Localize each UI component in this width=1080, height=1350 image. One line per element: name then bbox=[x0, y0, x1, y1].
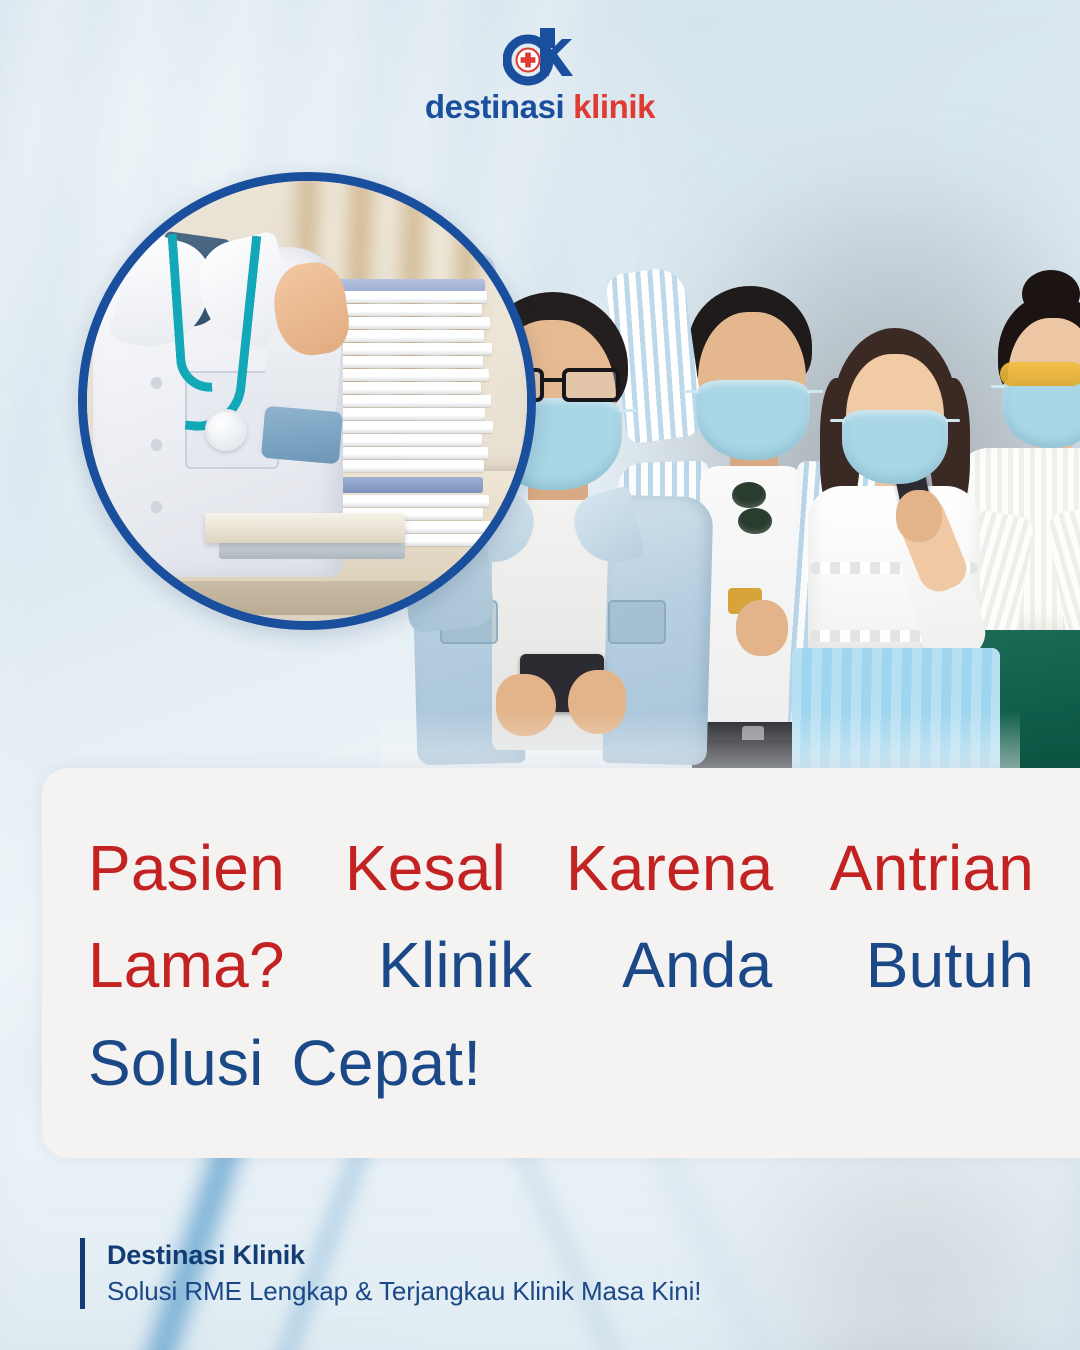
footer-brand-name: Destinasi Klinik bbox=[107, 1238, 701, 1272]
brand-wordmark: destinasi klinik bbox=[425, 90, 655, 123]
circle-inset-doctor-paperwork bbox=[78, 172, 536, 630]
jacket-pocket-right bbox=[608, 600, 666, 644]
person-woman-blue-skirt-on-phone bbox=[780, 300, 1010, 770]
stethoscope-bell-icon bbox=[205, 409, 247, 451]
coat-button-1 bbox=[151, 377, 162, 388]
coat-button-2 bbox=[151, 439, 162, 450]
headline-card: Pasien Kesal Karena Antrian Lama? Klinik… bbox=[42, 768, 1080, 1158]
coat-button-3 bbox=[151, 501, 162, 512]
yellow-glasses-icon bbox=[1000, 362, 1080, 386]
inset-desk-edge bbox=[78, 581, 536, 615]
brand-logo: destinasi klinik bbox=[0, 26, 1080, 123]
page-title: Pasien Kesal Karena Antrian Lama? Klinik… bbox=[88, 820, 1034, 1112]
doctor-sleeve-cuff bbox=[261, 406, 343, 465]
dk-medical-cross-logo-icon bbox=[503, 26, 577, 88]
hand bbox=[896, 490, 942, 542]
brand-word-destinasi: destinasi bbox=[425, 88, 564, 125]
sunglasses-icon bbox=[728, 482, 774, 536]
brand-word-klinik: klinik bbox=[573, 88, 655, 125]
social-media-poster: destinasi klinik bbox=[0, 0, 1080, 1350]
inset-book bbox=[205, 513, 405, 543]
inset-clipboard bbox=[219, 541, 405, 559]
hero-bottom-fade bbox=[380, 710, 1020, 770]
footer-brand-block: Destinasi Klinik Solusi RME Lengkap & Te… bbox=[80, 1238, 701, 1309]
footer-tagline: Solusi RME Lengkap & Terjangkau Klinik M… bbox=[107, 1275, 701, 1309]
face-mask-icon bbox=[1002, 376, 1080, 448]
